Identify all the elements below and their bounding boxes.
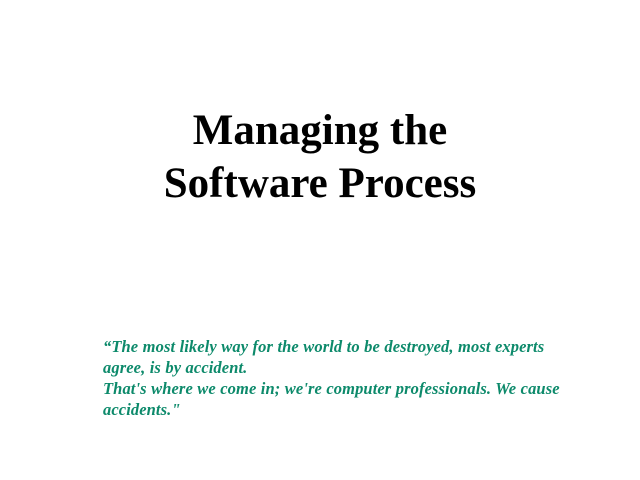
slide-quote: “The most likely way for the world to be… bbox=[103, 336, 589, 420]
title-line-1: Managing the bbox=[0, 104, 640, 157]
slide-canvas: Managing the Software Process “The most … bbox=[0, 0, 640, 480]
quote-paragraph-1: “The most likely way for the world to be… bbox=[103, 336, 589, 378]
slide-title: Managing the Software Process bbox=[0, 104, 640, 210]
quote-paragraph-2: That's where we come in; we're computer … bbox=[103, 378, 589, 420]
title-line-2: Software Process bbox=[0, 157, 640, 210]
